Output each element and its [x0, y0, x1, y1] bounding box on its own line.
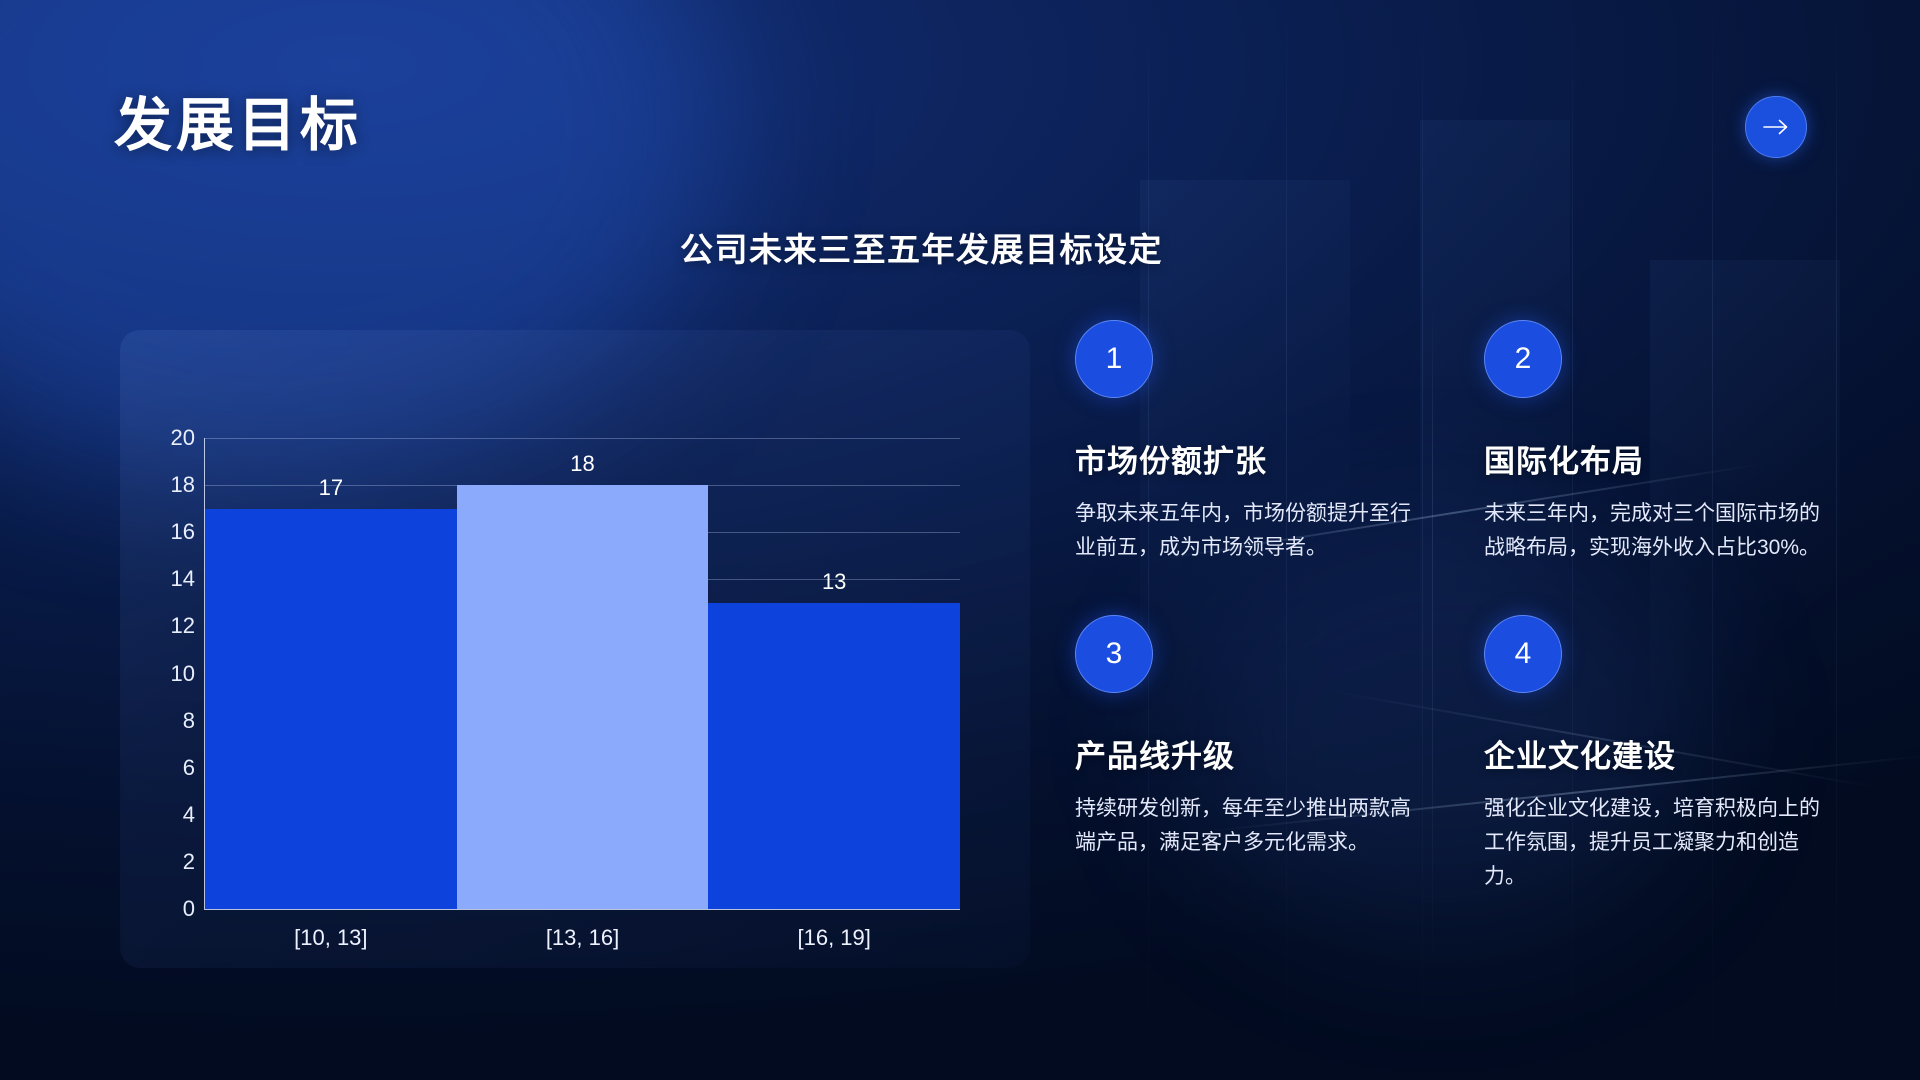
- x-axis-tick-label: [10, 13]: [205, 925, 457, 951]
- chart-bar[interactable]: [708, 603, 960, 909]
- goal-description: 强化企业文化建设，培育积极向上的工作氛围，提升员工凝聚力和创造力。: [1484, 792, 1835, 894]
- chart-panel: 2018161412108642017[10, 13]18[13, 16]13[…: [120, 330, 1030, 968]
- y-axis-tick-label: 16: [171, 519, 195, 545]
- goal-title: 产品线升级: [1075, 731, 1426, 776]
- chart-bar-column[interactable]: 13[16, 19]: [708, 438, 960, 909]
- next-slide-button[interactable]: [1745, 96, 1807, 158]
- y-axis-tick-label: 10: [171, 661, 195, 687]
- chart-bar[interactable]: [457, 485, 709, 909]
- y-axis-tick-label: 6: [183, 755, 195, 781]
- arrow-right-icon: [1763, 119, 1789, 135]
- y-axis-tick-label: 4: [183, 802, 195, 828]
- goal-title: 企业文化建设: [1484, 731, 1835, 776]
- goal-title: 市场份额扩张: [1075, 436, 1426, 481]
- goals-grid: 1市场份额扩张争取未来五年内，市场份额提升至行业前五，成为市场领导者。2国际化布…: [1075, 320, 1835, 894]
- goal-number-badge: 2: [1484, 320, 1562, 398]
- y-axis-tick-label: 20: [171, 425, 195, 451]
- y-axis-tick-label: 8: [183, 708, 195, 734]
- y-axis-tick-label: 18: [171, 472, 195, 498]
- x-axis-tick-label: [13, 16]: [457, 925, 709, 951]
- goal-description: 未来三年内，完成对三个国际市场的战略布局，实现海外收入占比30%。: [1484, 497, 1835, 565]
- y-axis-tick-label: 12: [171, 613, 195, 639]
- chart-heading: 公司未来三至五年发展目标设定: [680, 223, 1163, 271]
- chart-bar-value-label: 18: [457, 451, 709, 477]
- goal-card[interactable]: 1市场份额扩张争取未来五年内，市场份额提升至行业前五，成为市场领导者。: [1075, 320, 1426, 565]
- y-axis-tick-label: 0: [183, 896, 195, 922]
- goal-number-badge: 3: [1075, 615, 1153, 693]
- page-title: 发展目标: [114, 78, 362, 162]
- chart-plot-wrapper: 2018161412108642017[10, 13]18[13, 16]13[…: [120, 330, 1030, 968]
- goal-card[interactable]: 4企业文化建设强化企业文化建设，培育积极向上的工作氛围，提升员工凝聚力和创造力。: [1484, 615, 1835, 894]
- goal-card[interactable]: 3产品线升级持续研发创新，每年至少推出两款高端产品，满足客户多元化需求。: [1075, 615, 1426, 894]
- goal-card[interactable]: 2国际化布局未来三年内，完成对三个国际市场的战略布局，实现海外收入占比30%。: [1484, 320, 1835, 565]
- chart-bars: 17[10, 13]18[13, 16]13[16, 19]: [205, 438, 960, 909]
- y-axis-tick-label: 2: [183, 849, 195, 875]
- goal-title: 国际化布局: [1484, 436, 1835, 481]
- x-axis-tick-label: [16, 19]: [708, 925, 960, 951]
- chart-plot-area: 2018161412108642017[10, 13]18[13, 16]13[…: [204, 438, 960, 910]
- chart-bar-value-label: 17: [205, 475, 457, 501]
- goal-description: 争取未来五年内，市场份额提升至行业前五，成为市场领导者。: [1075, 497, 1426, 565]
- y-axis-tick-label: 14: [171, 566, 195, 592]
- chart-bar-column[interactable]: 18[13, 16]: [457, 438, 709, 909]
- chart-bar[interactable]: [205, 509, 457, 909]
- chart-bar-column[interactable]: 17[10, 13]: [205, 438, 457, 909]
- goal-number-badge: 1: [1075, 320, 1153, 398]
- chart-bar-value-label: 13: [708, 569, 960, 595]
- slide-root: 发展目标 公司未来三至五年发展目标设定 2018161412108642017[…: [0, 0, 1920, 1080]
- goal-description: 持续研发创新，每年至少推出两款高端产品，满足客户多元化需求。: [1075, 792, 1426, 860]
- goal-number-badge: 4: [1484, 615, 1562, 693]
